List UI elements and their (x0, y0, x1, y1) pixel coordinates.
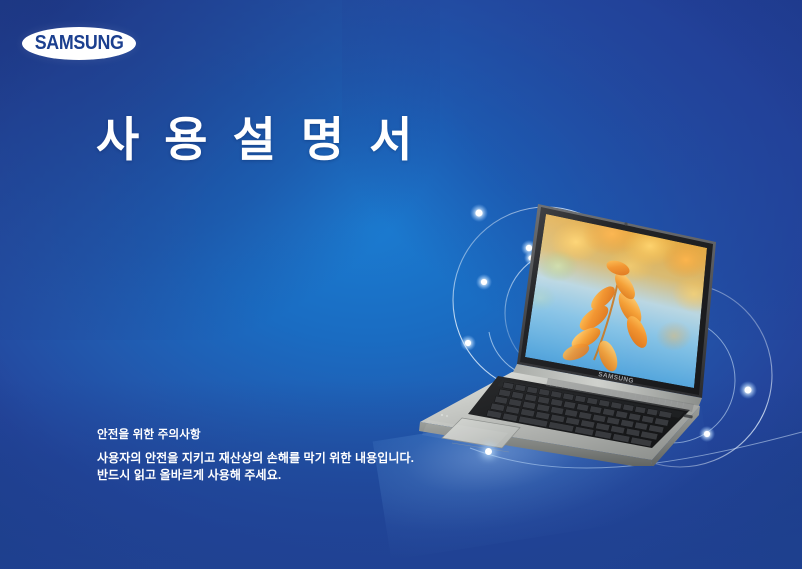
safety-notice-line-2: 반드시 읽고 올바르게 사용해 주세요. (97, 467, 414, 484)
laptop-status-led (446, 415, 448, 417)
samsung-logo: SAMSUNG (22, 27, 136, 60)
page-title: 사 용 설 명 서 (96, 116, 418, 163)
safety-notice-heading: 안전을 위한 주의사항 (97, 426, 414, 442)
samsung-notebook-image: SAMSUNG (398, 186, 778, 466)
safety-notice-line-1: 사용자의 안전을 지키고 재산상의 손해를 막기 위한 내용입니다. (97, 450, 414, 467)
samsung-wordmark: SAMSUNG (35, 32, 124, 55)
safety-notice: 안전을 위한 주의사항 사용자의 안전을 지키고 재산상의 손해를 막기 위한 … (97, 426, 414, 484)
manual-cover-page: SAMSUNG (0, 0, 802, 569)
laptop-webcam (624, 222, 627, 225)
laptop-status-led (441, 414, 443, 416)
laptop-corner-spark (485, 448, 492, 455)
